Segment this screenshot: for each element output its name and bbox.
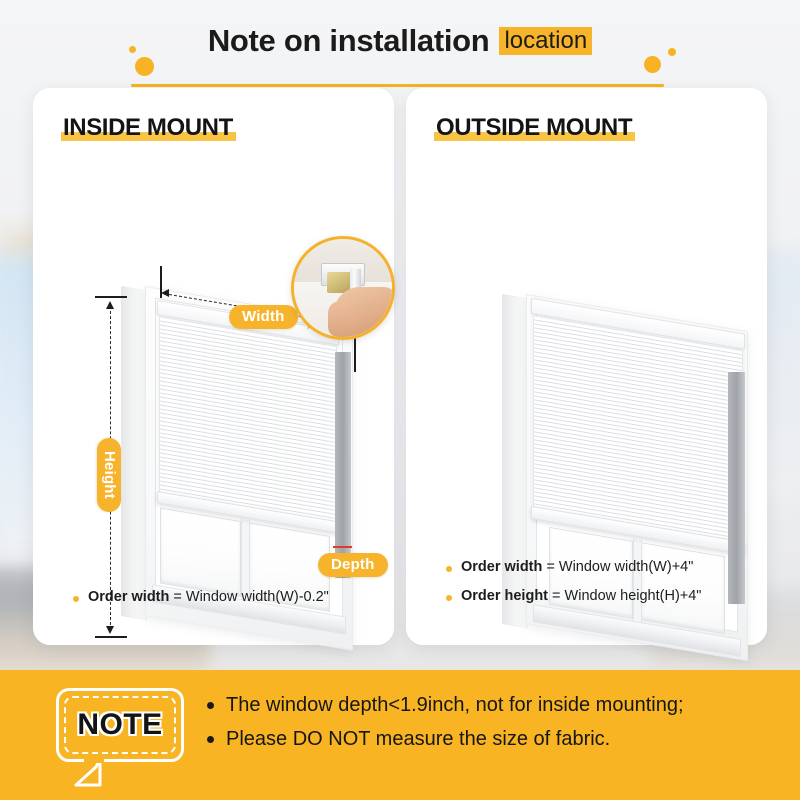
- photo-thumb: [328, 301, 350, 337]
- bullet-dot-icon: [446, 595, 452, 601]
- panel-heading-outside-mount: OUTSIDE MOUNT: [436, 114, 632, 142]
- diagram-outside-mount: Width Height Depth: [406, 88, 767, 608]
- panel-heading-inside-mount: INSIDE MOUNT: [63, 114, 233, 142]
- note-bold: Order width: [461, 559, 542, 575]
- label-height-inside: Height: [97, 438, 121, 512]
- note-text: Order width = Window width(W)-0.2": [88, 588, 329, 608]
- note-text: Order width = Window width(W)+4": [461, 558, 693, 578]
- diagram-inside-mount: Width Height Depth: [33, 88, 394, 608]
- window-pane-left: [160, 508, 241, 598]
- panel-inside-mount: INSIDE MOUNT Width: [33, 88, 394, 645]
- note-line: Order width = Window width(W)+4": [446, 558, 749, 578]
- panel-outside-mount: OUTSIDE MOUNT Width: [406, 88, 767, 645]
- page-header: Note on installation location: [0, 18, 800, 80]
- cellular-shade-fabric: [159, 316, 337, 522]
- note-badge: NOTE: [56, 688, 184, 762]
- note-band-text: Please DO NOT measure the size of fabric…: [226, 726, 610, 753]
- decorative-dot-large-right: [644, 56, 661, 73]
- height-extension-line-top: [95, 296, 127, 298]
- panel-heading-text: INSIDE MOUNT: [63, 114, 233, 141]
- note-bold: Order width: [88, 589, 169, 605]
- note-rest: = Window width(W)-0.2": [169, 589, 328, 605]
- window-depth-reveal: [335, 352, 351, 578]
- page-title: Note on installation: [208, 23, 490, 59]
- bullet-dot-icon: [207, 736, 214, 743]
- width-arrow-left: [161, 289, 169, 297]
- cellular-shade-fabric: [533, 315, 743, 542]
- bullet-dot-icon: [207, 702, 214, 709]
- decorative-dot-small-left: [129, 46, 136, 53]
- note-badge-tail: [74, 759, 104, 787]
- window-side-depth: [121, 286, 147, 620]
- note-line: Order width = Window width(W)-0.2": [73, 588, 376, 608]
- decorative-dot-small-right: [668, 48, 676, 56]
- note-rest: = Window height(H)+4": [548, 588, 701, 604]
- inset-photo-install-bracket: [291, 236, 395, 340]
- note-line: Order height = Window height(H)+4": [446, 587, 749, 607]
- height-arrow-bottom: [106, 626, 114, 634]
- note-band: NOTE The window depth<1.9inch, not for i…: [0, 670, 800, 800]
- label-width-inside: Width: [229, 305, 298, 329]
- title-underline: [131, 84, 664, 87]
- height-arrow-top: [106, 301, 114, 309]
- panel-notes-outside-mount: Order width = Window width(W)+4" Order h…: [446, 558, 749, 615]
- decorative-dot-large-left: [135, 57, 154, 76]
- bullet-dot-icon: [446, 566, 452, 572]
- note-badge-label: NOTE: [59, 691, 181, 759]
- height-extension-line-bottom: [95, 636, 127, 638]
- note-bold: Order height: [461, 588, 548, 604]
- bullet-dot-icon: [73, 596, 79, 602]
- note-band-line: Please DO NOT measure the size of fabric…: [207, 726, 684, 753]
- panel-notes-inside-mount: Order width = Window width(W)-0.2": [73, 588, 376, 617]
- depth-marker-line: [333, 546, 352, 548]
- note-text: Order height = Window height(H)+4": [461, 587, 701, 607]
- page-title-highlight: location: [499, 27, 592, 55]
- note-rest: = Window width(W)+4": [542, 559, 693, 575]
- note-band-text: The window depth<1.9inch, not for inside…: [226, 692, 684, 719]
- note-band-list: The window depth<1.9inch, not for inside…: [207, 692, 684, 760]
- inset-photo-content: [294, 239, 392, 337]
- note-band-line: The window depth<1.9inch, not for inside…: [207, 692, 684, 719]
- panel-heading-text: OUTSIDE MOUNT: [436, 114, 632, 141]
- label-depth-inside: Depth: [318, 553, 388, 577]
- width-extension-line-right: [354, 336, 356, 372]
